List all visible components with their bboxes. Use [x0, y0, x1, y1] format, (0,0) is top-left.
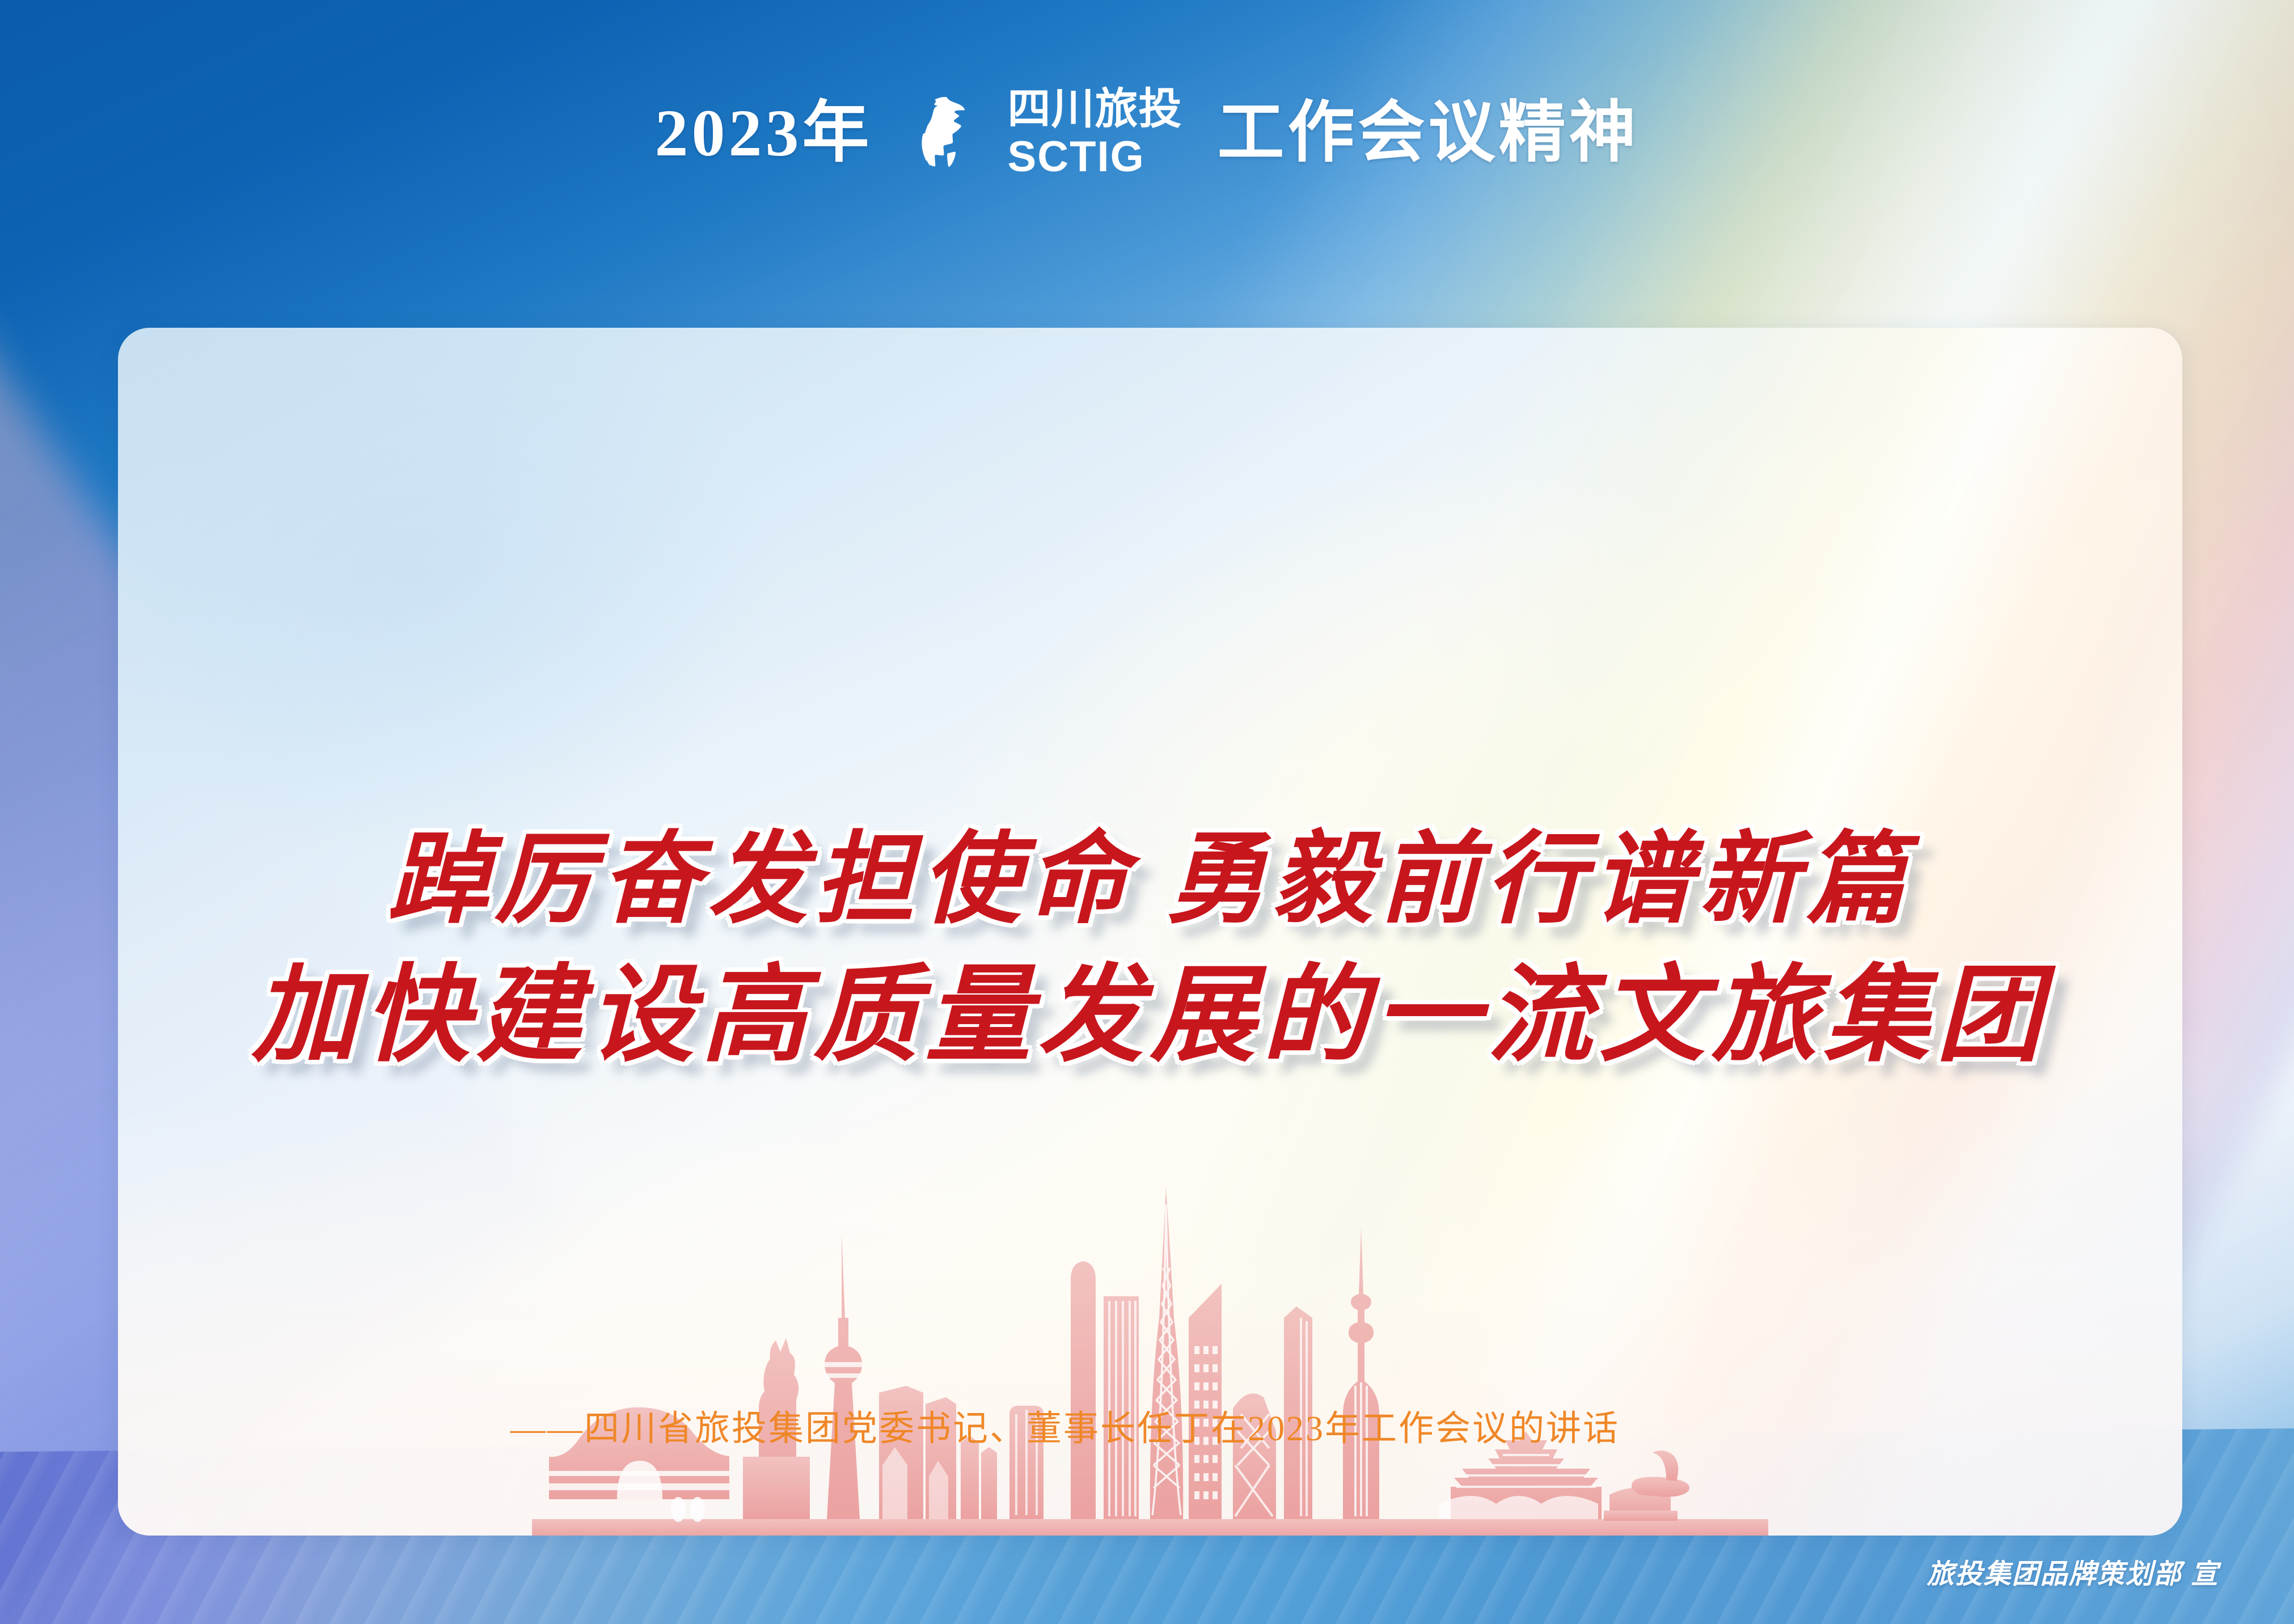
poster-root: 2023年 四川旅投 SCTIG 工作会议精神: [0, 0, 2294, 1624]
publisher-credit-text: 旅投集团品牌策划部 宣: [1927, 1559, 2219, 1589]
slogan-line-2: 加快建设高质量发展的一流文旅集团: [118, 959, 2182, 1073]
content-card: 踔厉奋发担使命 勇毅前行谱新篇 加快建设高质量发展的一流文旅集团 ——四川省旅投…: [118, 328, 2182, 1536]
slogan-attribution: ——四川省旅投集团党委书记、董事长任丁在2023年工作会议的讲话: [118, 1399, 2182, 1450]
card-light-ray: [1013, 328, 2182, 1536]
card-inner-glow: [118, 328, 2182, 1536]
brand-logo-wordmark: 四川旅投 SCTIG: [1008, 88, 1182, 179]
header-suffix-label: 工作会议精神: [1218, 100, 1640, 167]
globe-logo-icon: [908, 91, 993, 176]
attribution-text: ——四川省旅投集团党委书记、董事长任丁在2023年工作会议的讲话: [510, 1399, 1620, 1450]
brand-logo: 四川旅投 SCTIG: [908, 88, 1182, 179]
slogan-line-1: 踔厉奋发担使命 勇毅前行谱新篇: [118, 827, 2182, 934]
header-year-label: 2023年: [654, 100, 872, 167]
brand-name-en: SCTIG: [1008, 136, 1145, 179]
publisher-credit: 旅投集团品牌策划部 宣: [1927, 1551, 2219, 1591]
header-bar: 2023年 四川旅投 SCTIG 工作会议精神: [0, 0, 2294, 267]
brand-name-cn: 四川旅投: [1008, 88, 1182, 131]
city-skyline-silhouette: [532, 1148, 1768, 1536]
main-slogan: 踔厉奋发担使命 勇毅前行谱新篇 加快建设高质量发展的一流文旅集团: [118, 827, 2182, 1073]
card-bottom-wash: [118, 1105, 2182, 1536]
